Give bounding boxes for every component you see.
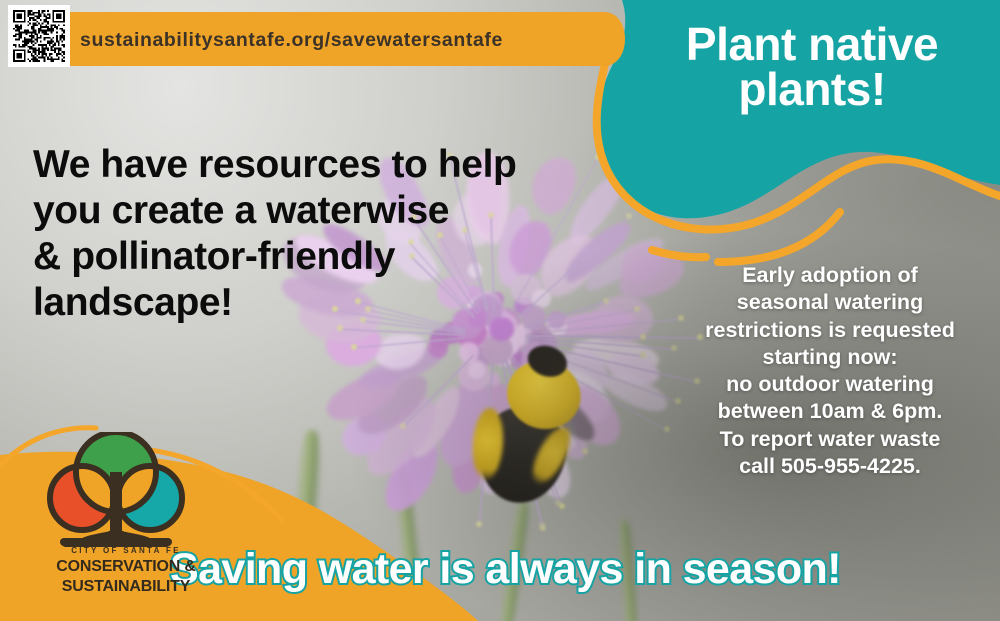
logo-line-2: SUSTAINABILITY: [46, 578, 206, 596]
header-badge-line-2: plants!: [738, 63, 885, 115]
restrictions-line: restrictions is requested: [660, 317, 1000, 344]
restrictions-line: between 10am & 6pm.: [660, 398, 1000, 425]
restrictions-line: seasonal watering: [660, 289, 1000, 316]
orange-curve-secondary-short: [652, 250, 706, 257]
orange-curve-secondary-long: [718, 212, 840, 262]
logo-line-1: CONSERVATION &: [46, 558, 206, 576]
qr-code-icon[interactable]: [13, 10, 65, 62]
restrictions-line: starting now:: [660, 344, 1000, 371]
url-text[interactable]: sustainabilitysantafe.org/savewatersanta…: [80, 22, 610, 58]
restrictions-line: no outdoor watering: [660, 371, 1000, 398]
logo-city-label: CITY OF SANTA FE: [56, 546, 196, 555]
headline: We have resources to help you create a w…: [33, 142, 613, 326]
header-badge: Plant native plants!: [636, 22, 988, 112]
restrictions-line: call 505-955-4225.: [660, 453, 1000, 480]
restrictions-line: To report water waste: [660, 426, 1000, 453]
qr-code-container[interactable]: [8, 5, 70, 67]
city-logo: CITY OF SANTA FE CONSERVATION & SUSTAINA…: [30, 432, 205, 612]
headline-line: you create a waterwise: [33, 188, 613, 234]
restrictions-line: Early adoption of: [660, 262, 1000, 289]
restrictions-text: Early adoption of seasonal watering rest…: [660, 262, 1000, 480]
headline-line: & pollinator-friendly: [33, 234, 613, 280]
poster: sustainabilitysantafe.org/savewatersanta…: [0, 0, 1000, 621]
headline-line: We have resources to help: [33, 142, 613, 188]
headline-line: landscape!: [33, 280, 613, 326]
tagline: Saving water is always in season!: [170, 548, 970, 591]
